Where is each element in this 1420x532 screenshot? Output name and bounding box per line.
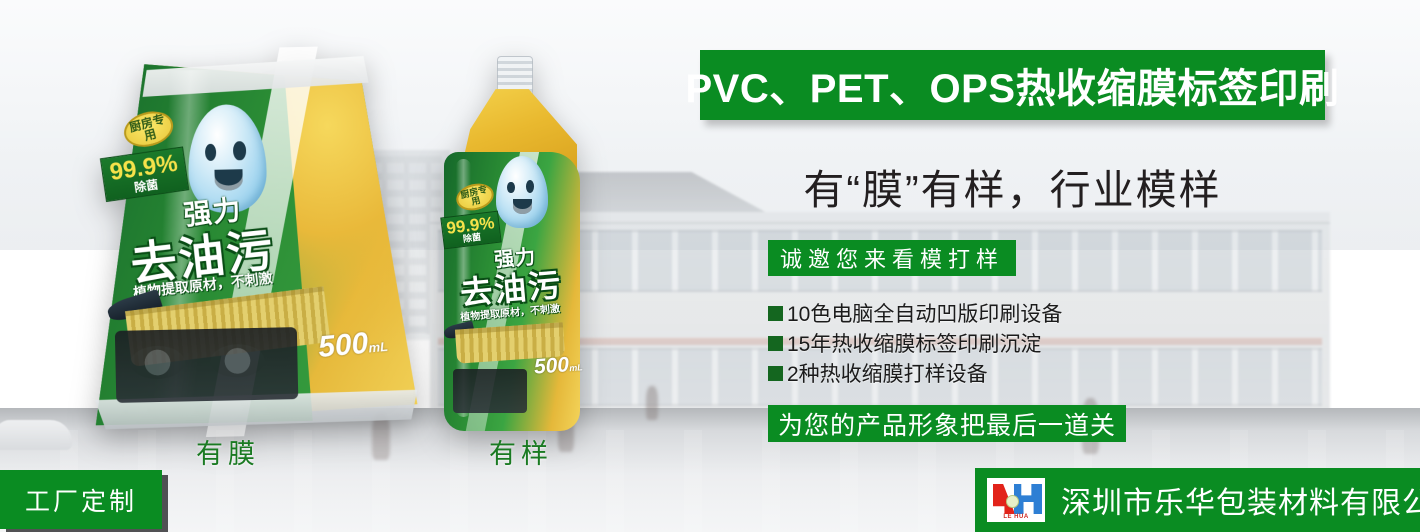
list-item: 2种热收缩膜打样设备 — [768, 358, 1168, 388]
le-hua-logo: LE HUA — [987, 478, 1045, 522]
header-banner: PVC、PET、OPS热收缩膜标签印刷 — [700, 50, 1325, 120]
list-item-label: 2种热收缩膜打样设备 — [787, 358, 988, 388]
header-banner-text: PVC、PET、OPS热收缩膜标签印刷 — [686, 56, 1340, 114]
bottle-volume-number: 500 — [533, 353, 570, 378]
product-pouch: 厨房专用 99.9% 除菌 强力 去油污 植物提取原材，不刺激 500mL — [74, 58, 431, 425]
list-item-label: 15年热收缩膜标签印刷沉淀 — [787, 328, 1041, 358]
list-item: 10色电脑全自动凹版印刷设备 — [768, 298, 1168, 328]
caption-right: 有样 — [489, 432, 553, 471]
mascot-mouth — [513, 199, 532, 213]
antibacterial-sub: 除菌 — [134, 178, 159, 193]
logo-circle-icon — [1006, 495, 1019, 508]
factory-custom-badge: 工厂定制 — [0, 470, 162, 529]
promotional-banner: 厨房专用 99.9% 除菌 强力 去油污 植物提取原材，不刺激 500mL — [0, 0, 1420, 532]
square-bullet-icon — [768, 336, 783, 351]
cta-banner-text: 为您的产品形象把最后一道关 — [778, 406, 1116, 442]
square-bullet-icon — [768, 306, 783, 321]
caption-right-label: 有样 — [489, 439, 553, 469]
pouch-volume-number: 500 — [317, 327, 370, 364]
pouch-volume: 500mL — [317, 325, 389, 365]
headline-text: 有“膜”有样，行业模样 — [803, 156, 1221, 216]
logo-wordmark: LE HUA — [988, 514, 1044, 520]
headline: 有“膜”有样，行业模样 — [700, 155, 1325, 217]
square-bullet-icon — [768, 366, 783, 381]
sub-banner-text: 诚邀您来看模打样 — [780, 242, 1004, 274]
company-footer: LE HUA 深圳市乐华包装材料有限公司 — [975, 468, 1420, 532]
pouch-volume-unit: mL — [368, 339, 389, 356]
product-bottle: 厨房专用 99.9% 除菌 强力 去油污 植物提取原材，不刺激 500mL — [438, 56, 586, 424]
cta-banner: 为您的产品形象把最后一道关 — [768, 405, 1126, 442]
list-item: 15年热收缩膜标签印刷沉淀 — [768, 328, 1168, 358]
list-item-label: 10色电脑全自动凹版印刷设备 — [787, 298, 1062, 328]
caption-left-label: 有膜 — [196, 439, 260, 469]
factory-custom-badge-label: 工厂定制 — [25, 482, 137, 518]
bottle-volume-unit: mL — [569, 362, 583, 373]
company-name: 深圳市乐华包装材料有限公司 — [1061, 478, 1420, 522]
sub-banner: 诚邀您来看模打样 — [768, 240, 1016, 276]
pouch-stove-graphic — [115, 328, 298, 404]
caption-left: 有膜 — [196, 432, 260, 471]
bottle-volume: 500mL — [533, 352, 583, 379]
bottle-stove-graphic — [453, 369, 527, 413]
feature-list: 10色电脑全自动凹版印刷设备 15年热收缩膜标签印刷沉淀 2种热收缩膜打样设备 — [768, 298, 1168, 388]
antibacterial-sub: 除菌 — [463, 233, 482, 244]
